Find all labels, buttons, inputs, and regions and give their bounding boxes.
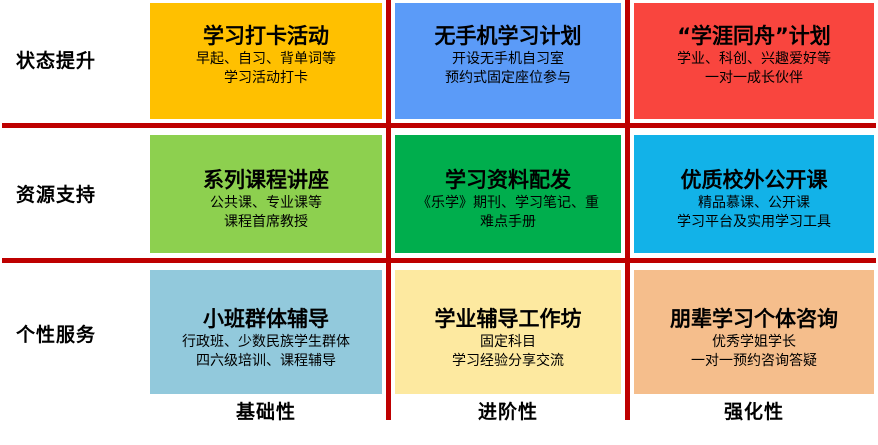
- row-label-resource-support: 资源支持: [16, 180, 146, 207]
- matrix-cell-r1c1[interactable]: 学习资料配发 《乐学》期刊、学习笔记、重 难点手册: [395, 135, 621, 253]
- cell-subtitle-line-2: 学习平台及实用学习工具: [673, 214, 835, 231]
- cell-subtitle-line-2: 一对一预约咨询答疑: [687, 353, 821, 370]
- matrix-cell-r2c2[interactable]: 朋辈学习个体咨询 优秀学姐学长 一对一预约咨询答疑: [634, 270, 874, 394]
- cell-subtitle-line-1: 《乐学》期刊、学习笔记、重: [413, 195, 603, 212]
- cell-subtitle-line-1: 早起、自习、背单词等: [192, 51, 340, 68]
- matrix-cell-r2c0[interactable]: 小班群体辅导 行政班、少数民族学生群体 四六级培训、课程辅导: [150, 270, 382, 394]
- cell-subtitle-line-2: 预约式固定座位参与: [441, 70, 575, 87]
- column-label-advanced: 进阶性: [395, 397, 621, 424]
- cell-subtitle-line-1: 行政班、少数民族学生群体: [178, 334, 354, 351]
- cell-subtitle-line-2: 学习经验分享交流: [448, 353, 568, 370]
- matrix-cell-r0c2[interactable]: “学涯同舟”计划 学业、科创、兴趣爱好等 一对一成长伙伴: [634, 3, 874, 119]
- matrix-cell-r1c2[interactable]: 优质校外公开课 精品慕课、公开课 学习平台及实用学习工具: [634, 135, 874, 253]
- matrix-cell-r0c0[interactable]: 学习打卡活动 早起、自习、背单词等 学习活动打卡: [150, 3, 382, 119]
- cell-title: 朋辈学习个体咨询: [670, 308, 838, 332]
- cell-title: “学涯同舟”计划: [677, 25, 831, 49]
- cell-subtitle-line-1: 开设无手机自习室: [448, 51, 568, 68]
- matrix-cell-r1c0[interactable]: 系列课程讲座 公共课、专业课等 课程首席教授: [150, 135, 382, 253]
- vertical-divider-1: [386, 0, 391, 420]
- cell-subtitle-line-2: 难点手册: [476, 214, 540, 231]
- cell-title: 学业辅导工作坊: [435, 308, 582, 332]
- cell-subtitle-line-1: 学业、科创、兴趣爱好等: [673, 51, 835, 68]
- cell-title: 优质校外公开课: [681, 169, 828, 193]
- cell-title: 学习资料配发: [445, 169, 571, 193]
- cell-title: 系列课程讲座: [203, 169, 329, 193]
- matrix-cell-r2c1[interactable]: 学业辅导工作坊 固定科目 学习经验分享交流: [395, 270, 621, 394]
- cell-subtitle-line-1: 固定科目: [476, 334, 540, 351]
- cell-subtitle-line-2: 一对一成长伙伴: [701, 70, 807, 87]
- cell-subtitle-line-1: 公共课、专业课等: [206, 195, 326, 212]
- matrix-cell-r0c1[interactable]: 无手机学习计划 开设无手机自习室 预约式固定座位参与: [395, 3, 621, 119]
- cell-subtitle-line-2: 四六级培训、课程辅导: [192, 353, 340, 370]
- cell-subtitle-line-1: 优秀学姐学长: [708, 334, 800, 351]
- cell-title: 小班群体辅导: [203, 308, 329, 332]
- column-label-intensive: 强化性: [634, 397, 874, 424]
- horizontal-divider-2: [2, 258, 876, 263]
- matrix-diagram: 状态提升 资源支持 个性服务 学习打卡活动 早起、自习、背单词等 学习活动打卡 …: [0, 0, 878, 445]
- row-label-status-improvement: 状态提升: [16, 46, 146, 73]
- cell-subtitle-line-1: 精品慕课、公开课: [694, 195, 814, 212]
- column-label-foundational: 基础性: [150, 397, 382, 424]
- vertical-divider-2: [625, 0, 630, 420]
- cell-subtitle-line-2: 学习活动打卡: [220, 70, 312, 87]
- cell-title: 学习打卡活动: [203, 25, 329, 49]
- horizontal-divider-1: [2, 123, 876, 128]
- cell-title: 无手机学习计划: [435, 25, 582, 49]
- cell-subtitle-line-2: 课程首席教授: [220, 214, 312, 231]
- row-label-personalized-service: 个性服务: [16, 320, 146, 347]
